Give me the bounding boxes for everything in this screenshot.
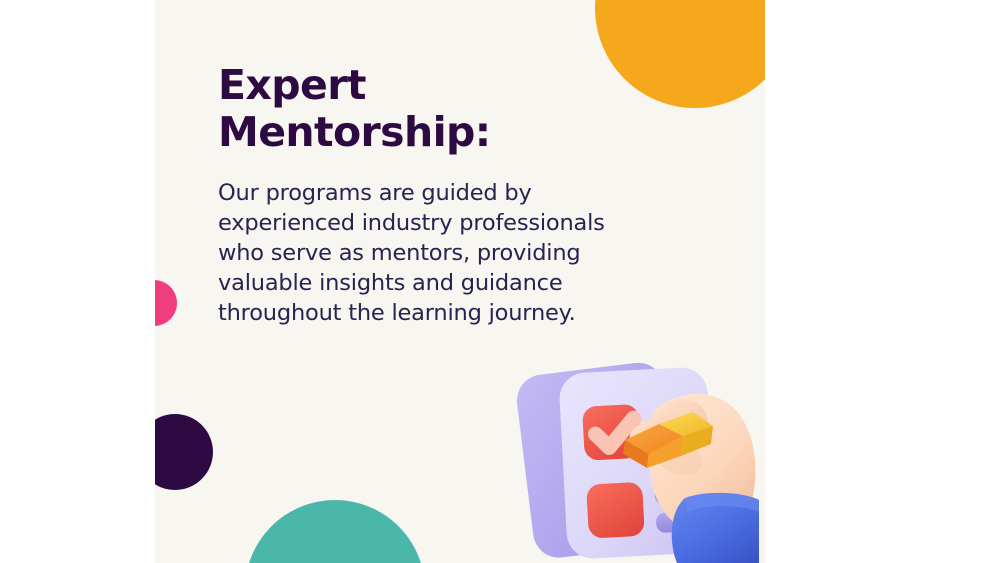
checklist-hand-icon (507, 352, 765, 563)
pink-circle-decoration (155, 280, 177, 326)
artboard: Expert Mentorship: Our programs are guid… (155, 0, 765, 563)
text-block: Expert Mentorship: Our programs are guid… (218, 62, 688, 328)
body-paragraph: Our programs are guided by experienced i… (218, 178, 688, 328)
purple-circle-decoration (155, 414, 213, 490)
page-title: Expert Mentorship: (218, 62, 688, 156)
slide-canvas-page: Expert Mentorship: Our programs are guid… (0, 0, 1000, 563)
sleeve (672, 493, 759, 563)
checkbox-unchecked (586, 482, 645, 539)
teal-circle-decoration (245, 500, 425, 563)
